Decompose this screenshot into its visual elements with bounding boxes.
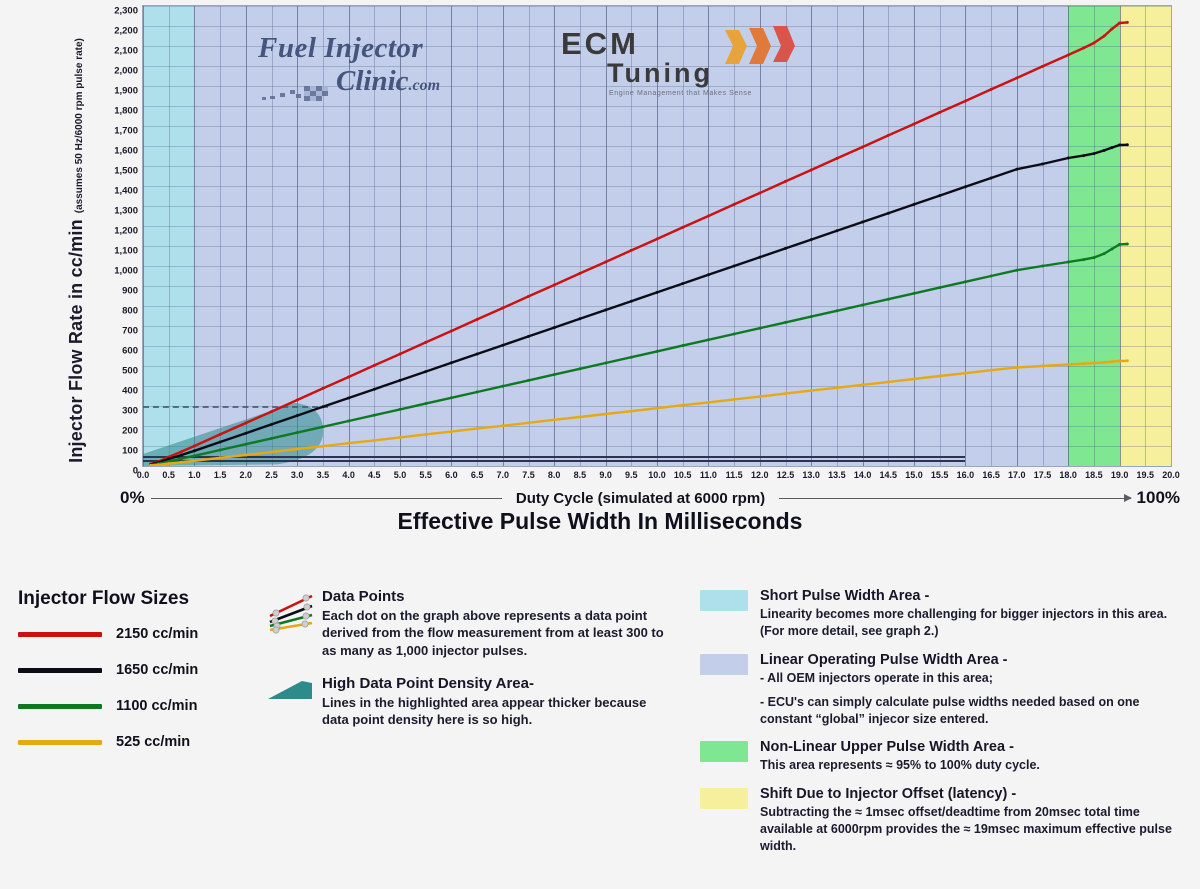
data-point: [964, 280, 967, 283]
y-tick-label: 400: [122, 386, 138, 397]
data-point: [656, 238, 659, 241]
legend-data-points: Data Points Each dot on the graph above …: [266, 588, 666, 744]
data-point: [938, 111, 941, 114]
data-point: [733, 203, 736, 206]
data-point: [424, 433, 427, 436]
data-point: [193, 445, 196, 448]
x-tick-label: 18.5: [1085, 470, 1103, 480]
data-point: [193, 459, 196, 462]
data-point: [938, 375, 941, 378]
legend-size-row-1: 1650 cc/min: [18, 662, 238, 678]
y-tick-label: 1,000: [114, 266, 138, 277]
y-tick-label: 1,400: [114, 186, 138, 197]
data-point: [1126, 143, 1129, 146]
legend-size-swatch: [18, 704, 102, 709]
data-point: [604, 362, 607, 365]
y-tick-label: 1,200: [114, 226, 138, 237]
x-tick-label: 15.0: [905, 470, 923, 480]
x-tick-label: 15.5: [931, 470, 949, 480]
data-point: [501, 385, 504, 388]
data-point: [450, 361, 453, 364]
data-point: [527, 335, 530, 338]
x-tick-label: 0.5: [162, 470, 175, 480]
data-point: [244, 443, 247, 446]
data-point: [1110, 146, 1113, 149]
x-tick-label: 16.5: [982, 470, 1000, 480]
data-point: [373, 388, 376, 391]
data-point: [733, 333, 736, 336]
legend-size-row-3: 525 cc/min: [18, 734, 238, 750]
legend-size-swatch: [18, 632, 102, 637]
data-point: [578, 317, 581, 320]
data-point: [990, 88, 993, 91]
data-point: [913, 123, 916, 126]
y-tick-label: 1,600: [114, 146, 138, 157]
checkered-flag-icon: [260, 84, 340, 106]
data-point: [1015, 269, 1018, 272]
data-point: [180, 457, 183, 460]
data-point: [784, 392, 787, 395]
data-point: [681, 282, 684, 285]
data-point: [758, 256, 761, 259]
data-point: [270, 437, 273, 440]
data-point: [527, 379, 530, 382]
data-point: [1126, 21, 1129, 24]
y-tick-label: 2,300: [114, 6, 138, 17]
y-tick-label: 700: [122, 326, 138, 337]
legend-sizes-title: Injector Flow Sizes: [18, 588, 238, 610]
data-point: [527, 295, 530, 298]
data-point: [784, 247, 787, 250]
data-point: [1067, 157, 1070, 160]
data-point: [964, 185, 967, 188]
data-point: [990, 275, 993, 278]
data-point: [630, 410, 633, 413]
duty-left-label: 0%: [120, 488, 145, 508]
data-point: [913, 378, 916, 381]
ecm-tuning-logo: ECM Tuning Engine Management that Makes …: [561, 28, 791, 97]
y-tick-label: 1,700: [114, 126, 138, 137]
data-point: [1092, 256, 1095, 259]
legend-density-body: Lines in the highlighted area appear thi…: [322, 694, 666, 729]
y-tick-label: 2,200: [114, 26, 138, 37]
legend-zone-item-2: Non-Linear Upper Pulse Width Area -This …: [700, 739, 1180, 774]
data-point: [450, 430, 453, 433]
data-point: [810, 315, 813, 318]
legend-zone-heading: Short Pulse Width Area -: [760, 588, 1180, 604]
data-point: [347, 420, 350, 423]
data-point: [450, 330, 453, 333]
data-point: [180, 461, 183, 464]
data-point: [244, 422, 247, 425]
data-point: [399, 379, 402, 382]
y-tick-label: 500: [122, 366, 138, 377]
y-tick-label: 2,000: [114, 66, 138, 77]
data-point: [476, 353, 479, 356]
data-point: [758, 192, 761, 195]
x-tick-label: 3.5: [317, 470, 330, 480]
x-tick-label: 2.0: [240, 470, 253, 480]
data-point: [707, 215, 710, 218]
x-tick-label: 2.5: [265, 470, 278, 480]
data-point: [938, 194, 941, 197]
data-point: [810, 389, 813, 392]
data-point: [707, 273, 710, 276]
fic-logo-dotcom: .com: [409, 77, 441, 94]
legend-data-points-body: Each dot on the graph above represents a…: [322, 607, 666, 659]
x-tick-label: 11.0: [700, 470, 717, 480]
data-point: [501, 344, 504, 347]
data-point: [424, 341, 427, 344]
data-point: [758, 395, 761, 398]
legend-zone-body: - All OEM injectors operate in this area…: [760, 670, 1180, 687]
legend-size-label: 2150 cc/min: [116, 626, 198, 642]
data-point: [887, 212, 890, 215]
data-point: [1110, 28, 1113, 31]
data-point: [244, 454, 247, 457]
y-tick-label: 2,100: [114, 46, 138, 57]
data-point: [1103, 149, 1106, 152]
data-point: [964, 100, 967, 103]
y-axis-title-sub: (assumes 50 Hz/6000 rpm pulse rate): [74, 38, 85, 213]
data-point: [219, 441, 222, 444]
data-point: [1041, 163, 1044, 166]
legend-item-density: High Data Point Density Area- Lines in t…: [266, 675, 666, 729]
legend-zone-body: Subtracting the ≈ 1msec offset/deadtime …: [760, 804, 1180, 856]
legend-zone-item-1: Linear Operating Pulse Width Area -- All…: [700, 652, 1180, 729]
x-tick-label: 10.0: [648, 470, 666, 480]
duty-rule-right: [779, 498, 1130, 499]
legend-data-points-heading: Data Points: [322, 588, 666, 605]
x-tick-label: 8.0: [548, 470, 561, 480]
data-point: [887, 298, 890, 301]
data-point: [399, 436, 402, 439]
data-point: [604, 261, 607, 264]
legend-size-row-0: 2150 cc/min: [18, 626, 238, 642]
data-point: [681, 226, 684, 229]
legend-zone-heading: Non-Linear Upper Pulse Width Area -: [760, 739, 1040, 755]
data-point: [656, 350, 659, 353]
fic-logo-line1: Fuel Injector: [258, 34, 528, 63]
x-tick-label: 19.0: [1111, 470, 1129, 480]
data-point: [1103, 35, 1106, 38]
data-point: [604, 309, 607, 312]
x-tick-label: 12.5: [777, 470, 795, 480]
x-tick-label: 19.5: [1137, 470, 1155, 480]
x-tick-label: 10.5: [674, 470, 692, 480]
x-tick-label: 1.0: [188, 470, 201, 480]
y-tick-label: 900: [122, 286, 138, 297]
legend-size-label: 525 cc/min: [116, 734, 190, 750]
data-point: [784, 180, 787, 183]
legend-zone-swatch: [700, 654, 748, 675]
data-point: [1015, 168, 1018, 171]
data-point: [990, 369, 993, 372]
duty-axis-text: Duty Cycle (simulated at 6000 rpm): [508, 490, 773, 507]
data-point: [861, 383, 864, 386]
data-point: [321, 445, 324, 448]
legend-size-row-2: 1100 cc/min: [18, 698, 238, 714]
data-point: [810, 169, 813, 172]
data-point: [810, 238, 813, 241]
y-tick-label: 1,300: [114, 206, 138, 217]
data-point: [578, 272, 581, 275]
data-point: [630, 249, 633, 252]
data-point: [219, 433, 222, 436]
data-point: [681, 404, 684, 407]
x-tick-label: 17.5: [1034, 470, 1052, 480]
data-point: [270, 451, 273, 454]
data-point: [578, 416, 581, 419]
data-point: [373, 364, 376, 367]
data-point: [861, 146, 864, 149]
x-tick-label: 6.0: [445, 470, 458, 480]
legend-size-label: 1650 cc/min: [116, 662, 198, 678]
data-point: [399, 353, 402, 356]
y-tick-label: 800: [122, 306, 138, 317]
data-point: [1067, 261, 1070, 264]
data-point: [707, 401, 710, 404]
legend-zone-body: Linearity becomes more challenging for b…: [760, 606, 1180, 641]
y-axis-title-main: Injector Flow Rate in cc/min: [66, 219, 87, 463]
data-point: [501, 424, 504, 427]
legend-zone-heading: Linear Operating Pulse Width Area -: [760, 652, 1180, 668]
data-point: [476, 391, 479, 394]
data-point: [913, 292, 916, 295]
data-point: [1126, 359, 1129, 362]
x-tick-label: 8.5: [574, 470, 587, 480]
legend-zone-body-2: - ECU's can simply calculate pulse width…: [760, 694, 1180, 729]
grid-hline: [143, 466, 1171, 467]
data-point: [296, 399, 299, 402]
x-tick-label: 6.5: [471, 470, 484, 480]
legend-size-label: 1100 cc/min: [116, 698, 197, 714]
x-tick-label: 9.5: [625, 470, 638, 480]
data-point: [296, 431, 299, 434]
data-point: [476, 318, 479, 321]
data-point: [347, 376, 350, 379]
data-point: [347, 442, 350, 445]
data-point: [1067, 363, 1070, 366]
data-point: [219, 456, 222, 459]
data-point: [1092, 42, 1095, 45]
x-tick-label: 4.0: [342, 470, 355, 480]
data-point: [347, 397, 350, 400]
duty-rule-left: [151, 498, 502, 499]
x-tick-label: 3.0: [291, 470, 304, 480]
data-point: [193, 449, 196, 452]
ecm-logo-tagline: Engine Management that Makes Sense: [609, 90, 791, 97]
data-point: [157, 463, 160, 466]
data-point: [630, 356, 633, 359]
legend-zone-item-3: Shift Due to Injector Offset (latency) -…: [700, 786, 1180, 856]
data-point: [1082, 47, 1085, 50]
legend-size-swatch: [18, 740, 102, 745]
x-tick-label: 9.0: [599, 470, 612, 480]
data-point: [1126, 243, 1129, 246]
data-point: [1118, 360, 1121, 363]
data-point: [1118, 144, 1121, 147]
legend-zones: Short Pulse Width Area -Linearity become…: [700, 588, 1180, 866]
data-point: [553, 284, 556, 287]
legend-zone-swatch: [700, 590, 748, 611]
x-tick-label: 5.5: [419, 470, 432, 480]
data-point: [835, 229, 838, 232]
data-point: [578, 367, 581, 370]
legend-zone-heading: Shift Due to Injector Offset (latency) -: [760, 786, 1180, 802]
y-tick-label: 300: [122, 406, 138, 417]
x-tick-label: 14.0: [854, 470, 872, 480]
y-tick-label: 1,900: [114, 86, 138, 97]
x-tick-label: 1.5: [214, 470, 227, 480]
data-point: [553, 326, 556, 329]
y-tick-label: 1,800: [114, 106, 138, 117]
y-tick-label: 100: [122, 446, 138, 457]
duty-cycle-axis: 0% Duty Cycle (simulated at 6000 rpm) 10…: [120, 487, 1180, 509]
data-point: [1041, 265, 1044, 268]
legend-density-heading: High Data Point Density Area-: [322, 675, 666, 692]
data-point: [1110, 360, 1113, 363]
data-point: [1118, 243, 1121, 246]
data-point: [656, 291, 659, 294]
x-tick-label: 12.0: [751, 470, 769, 480]
data-point: [1103, 361, 1106, 364]
data-point: [1103, 252, 1106, 255]
data-point: [1041, 65, 1044, 68]
data-point: [656, 407, 659, 410]
data-point: [604, 413, 607, 416]
legend-zone-swatch: [700, 788, 748, 809]
x-tick-label: 17.0: [1008, 470, 1026, 480]
legend-item-data-points: Data Points Each dot on the graph above …: [266, 588, 666, 659]
legend-zone-swatch: [700, 741, 748, 762]
data-point: [149, 464, 152, 467]
data-point: [1092, 362, 1095, 365]
data-point: [219, 449, 222, 452]
y-tick-label: 600: [122, 346, 138, 357]
data-point: [321, 425, 324, 428]
data-point: [399, 408, 402, 411]
y-axis-ticks: 01002003004005006007008009001,0001,1001,…: [104, 5, 140, 467]
x-tick-label: 16.0: [957, 470, 975, 480]
data-point: [1118, 22, 1121, 25]
data-point: [1082, 154, 1085, 157]
x-tick-label: 13.5: [828, 470, 846, 480]
y-axis-title: Injector Flow Rate in cc/min (assumes 50…: [46, 55, 106, 445]
x-tick-label: 11.5: [726, 470, 743, 480]
data-point: [784, 321, 787, 324]
data-point: [167, 462, 170, 465]
data-point: [1082, 258, 1085, 261]
duty-right-label: 100%: [1137, 488, 1180, 508]
data-point: [373, 439, 376, 442]
data-point: [270, 410, 273, 413]
data-point: [964, 372, 967, 375]
x-tick-label: 7.0: [497, 470, 510, 480]
data-point: [835, 386, 838, 389]
legend-zone-body: This area represents ≈ 95% to 100% duty …: [760, 757, 1040, 774]
data-point: [321, 387, 324, 390]
plot-area: Fuel Injector Clinic.com: [142, 5, 1172, 467]
x-tick-label: 4.5: [368, 470, 381, 480]
x-tick-label: 14.5: [880, 470, 898, 480]
data-point: [1082, 362, 1085, 365]
legend-area: Injector Flow Sizes 2150 cc/min1650 cc/m…: [0, 560, 1200, 889]
x-tick-label: 0.0: [137, 470, 150, 480]
data-point: [1092, 152, 1095, 155]
data-point: [1041, 365, 1044, 368]
legend-zone-item-0: Short Pulse Width Area -Linearity become…: [700, 588, 1180, 641]
data-point: [938, 286, 941, 289]
data-point: [553, 373, 556, 376]
x-tick-label: 18.0: [1059, 470, 1077, 480]
data-point: [424, 402, 427, 405]
data-point: [990, 177, 993, 180]
data-point: [733, 265, 736, 268]
x-tick-label: 7.5: [522, 470, 535, 480]
data-point: [887, 134, 890, 137]
chart-area: Injector Flow Rate in cc/min (assumes 50…: [0, 0, 1200, 545]
data-point: [913, 203, 916, 206]
data-point: [861, 221, 864, 224]
data-point: [861, 304, 864, 307]
grid-vline: [1171, 6, 1172, 466]
data-point: [1015, 366, 1018, 369]
x-tick-label: 20.0: [1162, 470, 1180, 480]
data-point: [270, 423, 273, 426]
data-point: [1067, 54, 1070, 57]
data-point: [681, 344, 684, 347]
x-tick-label: 13.0: [802, 470, 820, 480]
data-point: [244, 432, 247, 435]
x-axis-ticks: 0.00.51.01.52.02.53.03.54.04.55.05.56.06…: [142, 470, 1172, 486]
chart-page: Injector Flow Rate in cc/min (assumes 50…: [0, 0, 1200, 889]
data-point: [835, 309, 838, 312]
data-point: [180, 454, 183, 457]
y-tick-label: 1,100: [114, 246, 138, 257]
data-point: [296, 448, 299, 451]
data-points-icon: [266, 588, 322, 659]
data-point: [835, 157, 838, 160]
x-axis-title: Effective Pulse Width In Milliseconds: [0, 508, 1200, 535]
data-point: [733, 398, 736, 401]
density-wedge-icon: [266, 675, 322, 729]
data-point: [501, 307, 504, 310]
data-point: [180, 450, 183, 453]
data-point: [450, 396, 453, 399]
data-point: [321, 405, 324, 408]
data-point: [527, 421, 530, 424]
data-point: [887, 381, 890, 384]
data-point: [424, 370, 427, 373]
fuel-injector-clinic-logo: Fuel Injector Clinic.com: [258, 34, 528, 96]
data-point: [758, 327, 761, 330]
data-point: [1110, 248, 1113, 251]
chevrons-icon: [721, 26, 801, 70]
data-point: [1015, 77, 1018, 80]
data-point: [630, 300, 633, 303]
y-tick-label: 1,500: [114, 166, 138, 177]
legend-injector-flow-sizes: Injector Flow Sizes 2150 cc/min1650 cc/m…: [18, 588, 238, 770]
data-point: [553, 418, 556, 421]
data-point: [476, 427, 479, 430]
data-point: [193, 454, 196, 457]
data-point: [707, 338, 710, 341]
data-point: [296, 414, 299, 417]
data-point: [373, 414, 376, 417]
fic-logo-line2: Clinic.com: [336, 67, 528, 96]
x-tick-label: 5.0: [394, 470, 407, 480]
